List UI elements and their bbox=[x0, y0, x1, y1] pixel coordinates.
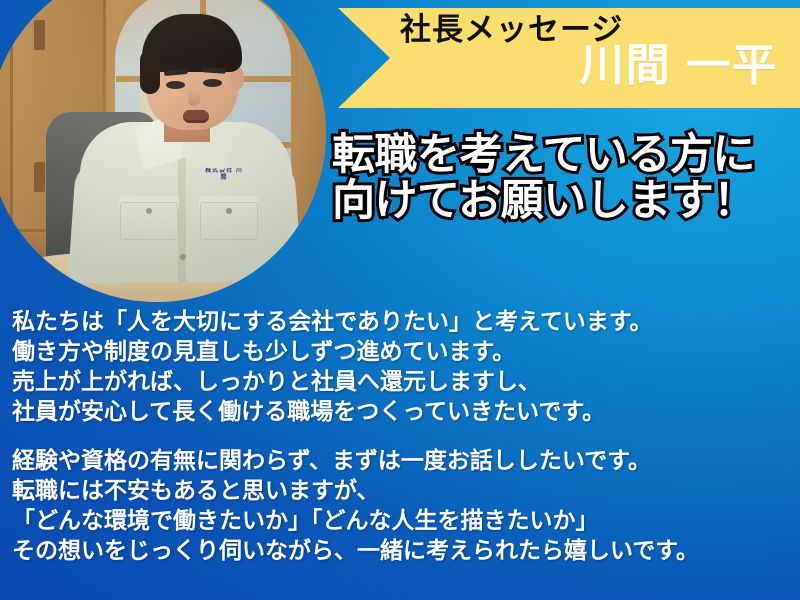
title-ribbon-banner: 社長メッセージ 川間 一平 bbox=[338, 8, 800, 108]
message-paragraph-1: 私たちは「人を大切にする会社でありたい」と考えています。 働き方や制度の見直しも… bbox=[12, 306, 800, 427]
message-line: 私たちは「人を大切にする会社でありたい」と考えています。 bbox=[12, 306, 800, 336]
message-line: 経験や資格の有無に関わらず、まずは一度お話ししたいです。 bbox=[12, 445, 800, 475]
president-name: 川間 一平 bbox=[400, 43, 800, 89]
message-line: 転職には不安もあると思いますが、 bbox=[12, 475, 800, 505]
photo-vignette-overlay bbox=[0, 0, 326, 302]
message-line: 「どんな環境で働きたいか」「どんな人生を描きたいか」 bbox=[12, 505, 800, 535]
message-line: 社員が安心して長く働ける職場をつくっていきたいです。 bbox=[12, 396, 800, 426]
message-line: 売上が上がれば、しっかりと社員へ還元しますし、 bbox=[12, 366, 800, 396]
headline: 転職を考えている方に 向けてお願いします！ bbox=[332, 132, 800, 225]
message-paragraph-2: 経験や資格の有無に関わらず、まずは一度お話ししたいです。 転職には不安もあると思… bbox=[12, 445, 800, 566]
banner-label: 社長メッセージ bbox=[400, 8, 800, 45]
president-message-poster: 株式会社 川間 社長メッセージ 川間 一平 転職を考えている方に 向けてお願いし… bbox=[0, 0, 800, 600]
message-line: 働き方や制度の見直しも少しずつ進めています。 bbox=[12, 336, 800, 366]
headline-line-2: 向けてお願いします！ bbox=[332, 178, 800, 224]
president-portrait-photo: 株式会社 川間 bbox=[0, 0, 326, 302]
message-line: その想いをじっくり伺いながら、一緒に考えられたら嬉しいです。 bbox=[12, 535, 800, 565]
headline-line-1: 転職を考えている方に bbox=[332, 132, 800, 178]
message-body: 私たちは「人を大切にする会社でありたい」と考えています。 働き方や制度の見直しも… bbox=[12, 306, 800, 565]
